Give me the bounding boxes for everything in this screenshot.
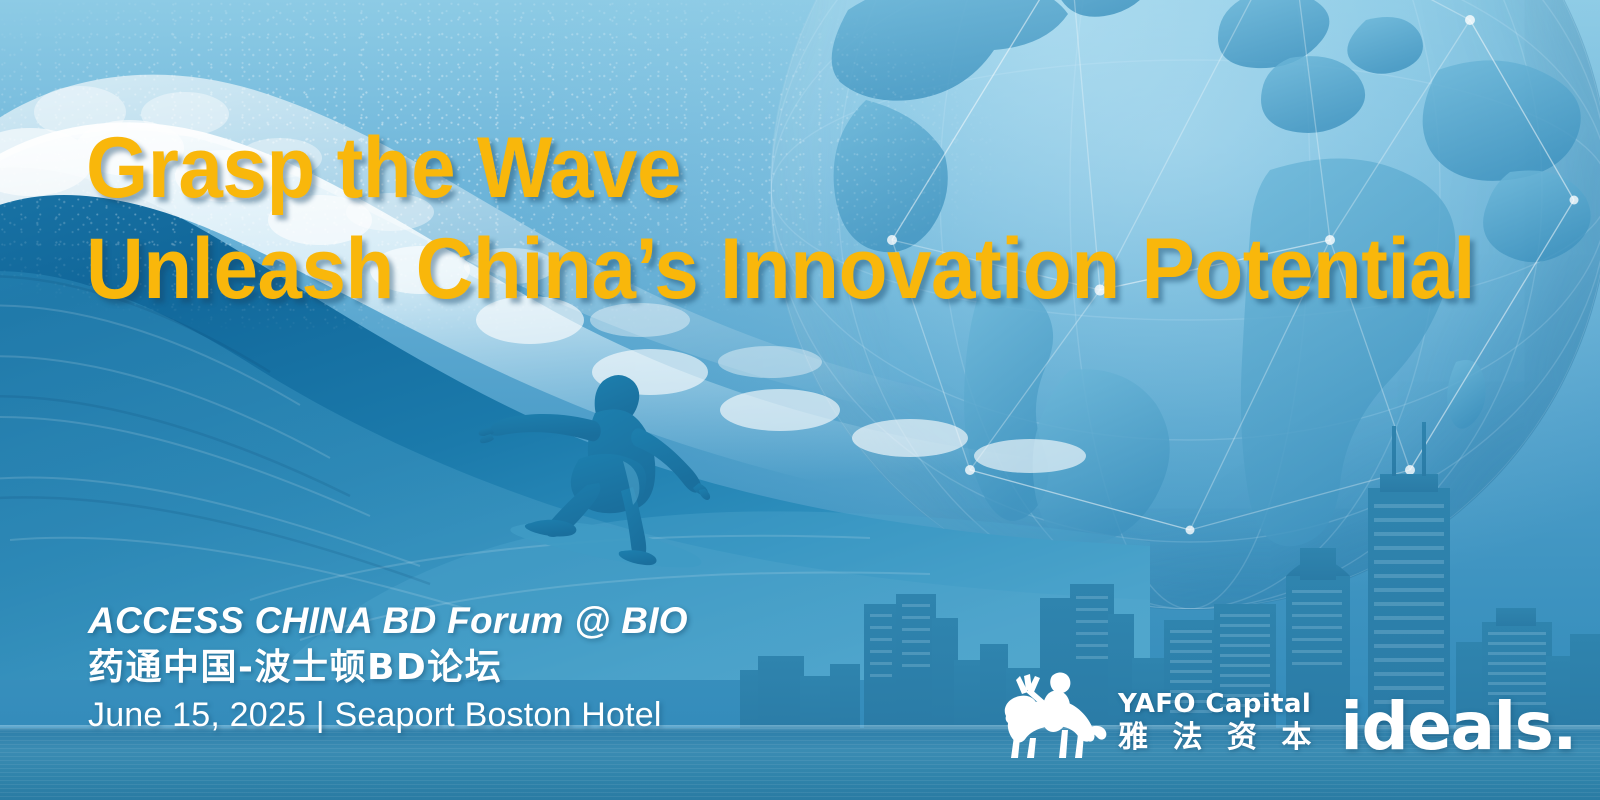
yafo-wordmark: YAFO Capital 雅 法 资 本 xyxy=(1118,688,1318,760)
event-details: ACCESS CHINA BD Forum @ BIO 药通中国-波士顿BD论坛… xyxy=(88,598,688,738)
headline: Grasp the Wave Unleash China’s Innovatio… xyxy=(86,118,1580,320)
yafo-name-en: YAFO Capital xyxy=(1118,688,1318,720)
yafo-name-cn: 雅 法 资 本 xyxy=(1118,720,1318,756)
headline-line-2: Unleash China’s Innovation Potential xyxy=(86,219,1475,320)
lion-rider-trident-icon xyxy=(996,668,1108,760)
ideals-logo: ideals. xyxy=(1340,696,1576,760)
headline-line-1: Grasp the Wave xyxy=(86,118,1475,219)
event-date-venue: June 15, 2025 | Seaport Boston Hotel xyxy=(88,692,688,738)
event-banner: Grasp the Wave Unleash China’s Innovatio… xyxy=(0,0,1600,800)
yafo-capital-logo: YAFO Capital 雅 法 资 本 xyxy=(996,668,1318,760)
event-title-cn: 药通中国-波士顿BD论坛 xyxy=(88,644,688,692)
sponsor-logos: YAFO Capital 雅 法 资 本 ideals. xyxy=(996,668,1576,760)
event-title-en: ACCESS CHINA BD Forum @ BIO xyxy=(88,598,688,644)
surfer-silhouette xyxy=(455,355,755,585)
